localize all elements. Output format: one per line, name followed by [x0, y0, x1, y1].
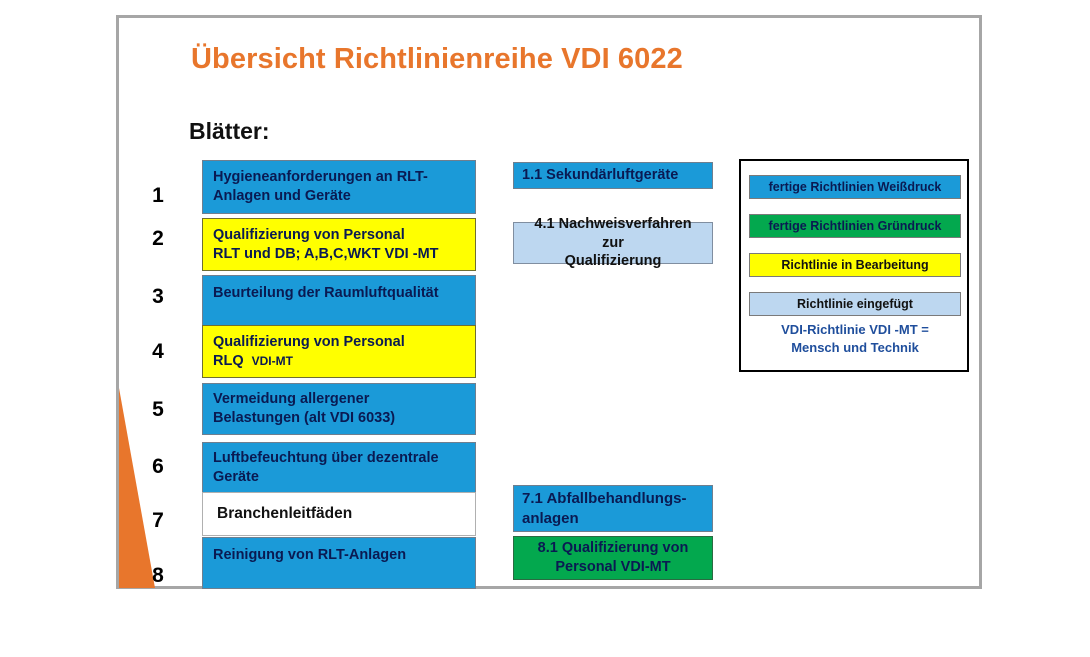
- sheet-number-3: 3: [145, 285, 171, 309]
- sheet-number-6: 6: [145, 455, 171, 479]
- legend-item-weissdruck-label: fertige Richtlinien Weißdruck: [769, 180, 942, 194]
- page-title: Übersicht Richtlinienreihe VDI 6022: [191, 43, 683, 76]
- legend-item-gruendruck[interactable]: fertige Richtlinien Gründruck: [749, 214, 961, 238]
- legend-panel: fertige Richtlinien Weißdruck fertige Ri…: [739, 159, 969, 372]
- sheet-box-6[interactable]: Luftbefeuchtung über dezentrale Geräte: [202, 442, 476, 494]
- subsheet-box-4-1[interactable]: 4.1 Nachweisverfahren zur Qualifizierung: [513, 222, 713, 264]
- legend-item-weissdruck[interactable]: fertige Richtlinien Weißdruck: [749, 175, 961, 199]
- section-label-blaetter: Blätter:: [189, 118, 270, 145]
- sheet-box-7[interactable]: Branchenleitfäden: [202, 492, 476, 536]
- legend-item-eingefuegt-label: Richtlinie eingefügt: [797, 297, 913, 311]
- sheet-7-line1: Branchenleitfäden: [217, 504, 475, 524]
- sheet-2-line2: RLT und DB; A,B,C,WKT VDI -MT: [213, 245, 475, 264]
- sheet-box-4[interactable]: Qualifizierung von Personal RLQVDI-MT: [202, 325, 476, 378]
- sheet-number-1: 1: [145, 184, 171, 208]
- legend-item-eingefuegt[interactable]: Richtlinie eingefügt: [749, 292, 961, 316]
- subsheet-4-1-line1: 4.1 Nachweisverfahren zur: [522, 215, 704, 253]
- legend-note-line1: VDI-Richtlinie VDI -MT =: [781, 322, 929, 337]
- sheet-number-4: 4: [145, 340, 171, 364]
- sheet-6-line1: Luftbefeuchtung über dezentrale: [213, 449, 475, 468]
- sheet-number-7: 7: [145, 509, 171, 533]
- sheet-4-line1: Qualifizierung von Personal: [213, 333, 475, 352]
- subsheet-7-1-line2: anlagen: [522, 509, 704, 529]
- sheet-box-8[interactable]: Reinigung von RLT-Anlagen: [202, 537, 476, 589]
- sheet-1-line2: Anlagen und Geräte: [213, 187, 475, 206]
- subsheet-8-1-line1: 8.1 Qualifizierung von: [522, 539, 704, 558]
- sheet-4-line2: RLQ: [213, 353, 244, 369]
- subsheet-8-1-line2: Personal VDI-MT: [522, 558, 704, 577]
- sheet-4-line2-group: RLQVDI-MT: [213, 352, 475, 371]
- sheet-number-5: 5: [145, 398, 171, 422]
- legend-item-gruendruck-label: fertige Richtlinien Gründruck: [769, 219, 942, 233]
- slide-frame: Übersicht Richtlinienreihe VDI 6022 Blät…: [116, 15, 982, 589]
- subsheet-box-8-1[interactable]: 8.1 Qualifizierung von Personal VDI-MT: [513, 536, 713, 580]
- legend-note: VDI-Richtlinie VDI -MT = Mensch und Tech…: [749, 321, 961, 356]
- sheet-8-line1: Reinigung von RLT-Anlagen: [213, 546, 475, 565]
- sheet-box-5[interactable]: Vermeidung allergener Belastungen (alt V…: [202, 383, 476, 435]
- sheet-3-line1: Beurteilung der Raumluftqualität: [213, 284, 475, 303]
- sheet-2-line1: Qualifizierung von Personal: [213, 226, 475, 245]
- sheet-box-2[interactable]: Qualifizierung von Personal RLT und DB; …: [202, 218, 476, 271]
- legend-item-in-bearbeitung[interactable]: Richtlinie in Bearbeitung: [749, 253, 961, 277]
- sheet-number-2: 2: [145, 227, 171, 251]
- sheet-box-1[interactable]: Hygieneanforderungen an RLT- Anlagen und…: [202, 160, 476, 214]
- sheet-1-line1: Hygieneanforderungen an RLT-: [213, 168, 475, 187]
- subsheet-4-1-line2: Qualifizierung: [522, 252, 704, 271]
- sheet-number-8: 8: [145, 564, 171, 588]
- sheet-5-line1: Vermeidung allergener: [213, 390, 475, 409]
- subsheet-1-1-line1: 1.1 Sekundärluftgeräte: [522, 166, 704, 185]
- sheet-4-line2-sub: VDI-MT: [252, 354, 293, 368]
- subsheet-box-1-1[interactable]: 1.1 Sekundärluftgeräte: [513, 162, 713, 189]
- sheet-box-3[interactable]: Beurteilung der Raumluftqualität: [202, 275, 476, 327]
- sheet-5-line2: Belastungen (alt VDI 6033): [213, 409, 475, 428]
- subsheet-box-7-1[interactable]: 7.1 Abfallbehandlungs- anlagen: [513, 485, 713, 532]
- subsheet-7-1-line1: 7.1 Abfallbehandlungs-: [522, 489, 704, 509]
- sheet-6-line2: Geräte: [213, 468, 475, 487]
- legend-note-line2: Mensch und Technik: [791, 340, 919, 355]
- legend-item-in-bearbeitung-label: Richtlinie in Bearbeitung: [781, 258, 928, 272]
